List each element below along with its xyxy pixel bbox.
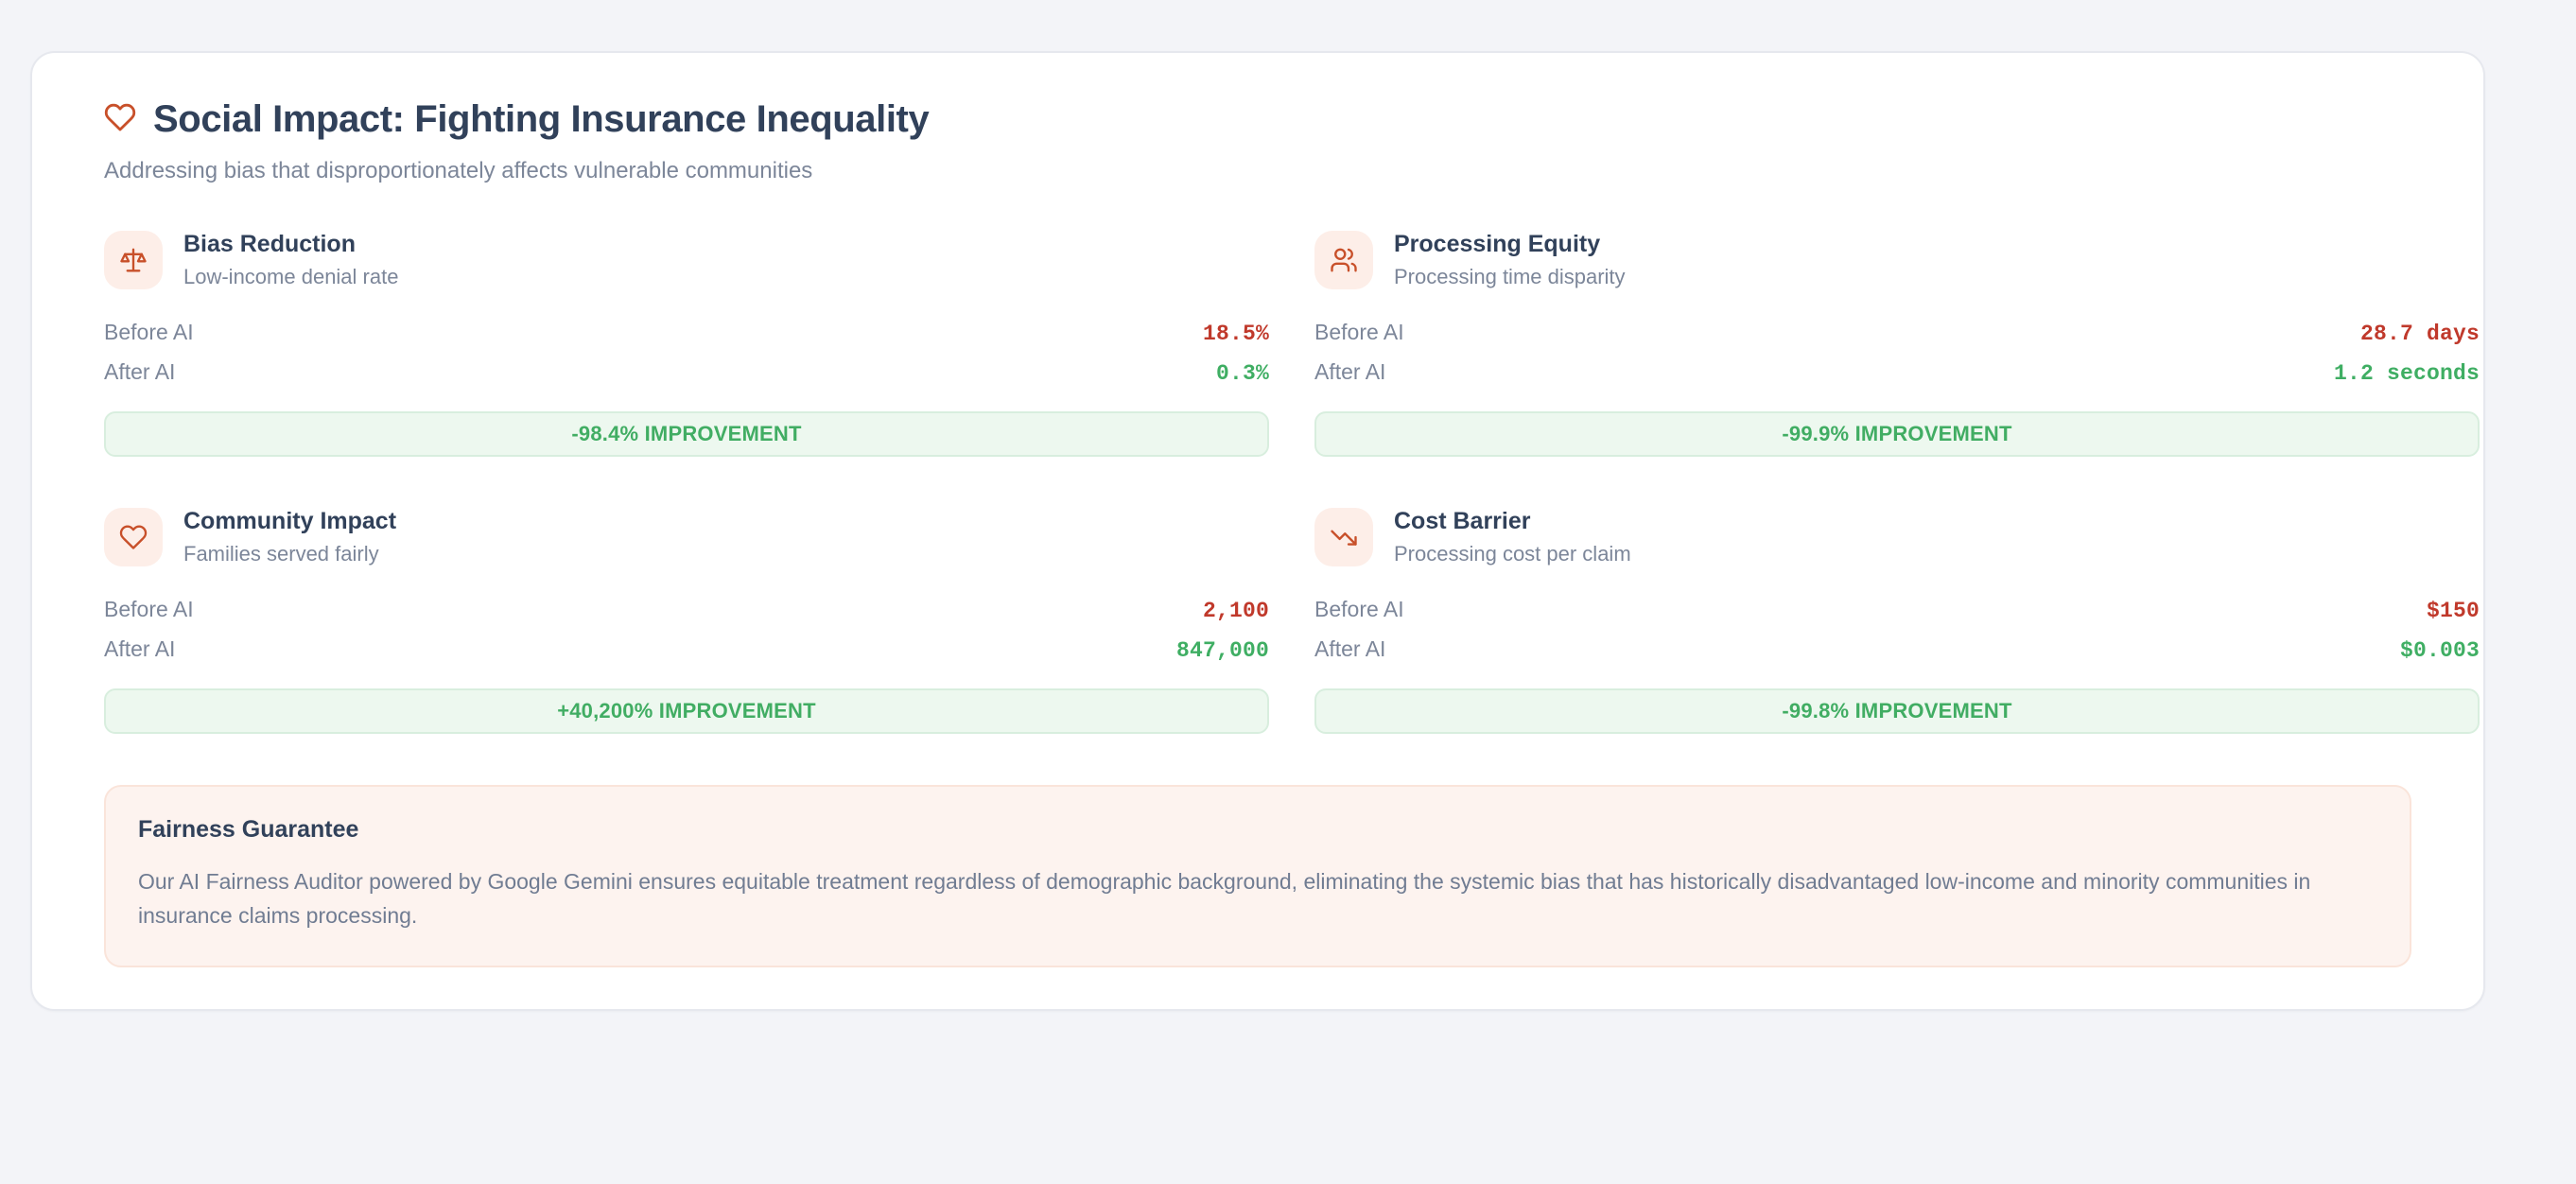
users-people-icon — [1314, 231, 1373, 289]
metric-rows: Before AI 2,100 After AI 847,000 — [104, 590, 1269, 670]
metric-row-after: After AI 1.2 seconds — [1314, 353, 2480, 392]
metric-card-bias-reduction: Bias Reduction Low-income denial rate Be… — [104, 231, 1269, 457]
page-root: Social Impact: Fighting Insurance Inequa… — [0, 0, 2576, 1184]
metric-row-label: Before AI — [104, 597, 194, 622]
metric-value-before: 28.7 days — [2360, 322, 2480, 346]
metric-row-label: Before AI — [1314, 597, 1404, 622]
metric-header: Community Impact Families served fairly — [104, 508, 1269, 566]
heart-icon — [104, 508, 163, 566]
title-row: Social Impact: Fighting Insurance Inequa… — [104, 98, 2440, 140]
metric-description: Processing cost per claim — [1394, 542, 1631, 566]
metric-description: Processing time disparity — [1394, 265, 1626, 288]
metric-value-before: 18.5% — [1203, 322, 1269, 346]
metric-header: Bias Reduction Low-income denial rate — [104, 231, 1269, 289]
metric-value-after: 1.2 seconds — [2334, 361, 2480, 386]
heart-icon — [104, 101, 136, 138]
social-impact-panel: Social Impact: Fighting Insurance Inequa… — [30, 51, 2485, 1011]
fairness-guarantee-title: Fairness Guarantee — [138, 817, 2377, 844]
metric-row-label: Before AI — [1314, 320, 1404, 345]
trending-down-icon — [1314, 508, 1373, 566]
metric-name: Community Impact — [183, 509, 396, 535]
metric-row-label: After AI — [104, 636, 175, 662]
metric-value-after: 847,000 — [1176, 638, 1269, 663]
metric-row-before: Before AI 18.5% — [104, 313, 1269, 353]
metric-grid: Bias Reduction Low-income denial rate Be… — [76, 231, 2440, 734]
improvement-badge: -98.4% IMPROVEMENT — [104, 411, 1269, 457]
metric-value-after: $0.003 — [2400, 638, 2480, 663]
metric-rows: Before AI $150 After AI $0.003 — [1314, 590, 2480, 670]
metric-row-after: After AI 847,000 — [104, 630, 1269, 670]
metric-header: Cost Barrier Processing cost per claim — [1314, 508, 2480, 566]
metric-header-text: Community Impact Families served fairly — [183, 509, 396, 566]
panel-header: Social Impact: Fighting Insurance Inequa… — [76, 98, 2440, 185]
improvement-badge: -99.9% IMPROVEMENT — [1314, 411, 2480, 457]
metric-row-label: After AI — [1314, 636, 1385, 662]
metric-value-before: $150 — [2427, 599, 2480, 623]
metric-header-text: Cost Barrier Processing cost per claim — [1394, 509, 1631, 566]
page-title: Social Impact: Fighting Insurance Inequa… — [153, 98, 929, 140]
metric-row-label: After AI — [1314, 359, 1385, 385]
metric-value-after: 0.3% — [1216, 361, 1269, 386]
metric-header-text: Processing Equity Processing time dispar… — [1394, 232, 1626, 288]
metric-row-before: Before AI 2,100 — [104, 590, 1269, 630]
metric-row-before: Before AI $150 — [1314, 590, 2480, 630]
scales-balance-icon — [104, 231, 163, 289]
metric-value-before: 2,100 — [1203, 599, 1269, 623]
metric-description: Families served fairly — [183, 542, 396, 566]
fairness-guarantee-panel: Fairness Guarantee Our AI Fairness Audit… — [104, 785, 2411, 967]
metric-row-after: After AI $0.003 — [1314, 630, 2480, 670]
metric-card-processing-equity: Processing Equity Processing time dispar… — [1314, 231, 2480, 457]
metric-header: Processing Equity Processing time dispar… — [1314, 231, 2480, 289]
metric-name: Cost Barrier — [1394, 509, 1631, 535]
metric-name: Processing Equity — [1394, 232, 1626, 258]
fairness-guarantee-body: Our AI Fairness Auditor powered by Googl… — [138, 864, 2377, 934]
metric-row-before: Before AI 28.7 days — [1314, 313, 2480, 353]
metric-card-cost-barrier: Cost Barrier Processing cost per claim B… — [1314, 508, 2480, 734]
metric-rows: Before AI 18.5% After AI 0.3% — [104, 313, 1269, 392]
metric-rows: Before AI 28.7 days After AI 1.2 seconds — [1314, 313, 2480, 392]
improvement-badge: +40,200% IMPROVEMENT — [104, 688, 1269, 734]
improvement-badge: -99.8% IMPROVEMENT — [1314, 688, 2480, 734]
metric-description: Low-income denial rate — [183, 265, 398, 288]
metric-row-label: Before AI — [104, 320, 194, 345]
metric-card-community-impact: Community Impact Families served fairly … — [104, 508, 1269, 734]
metric-header-text: Bias Reduction Low-income denial rate — [183, 232, 398, 288]
metric-name: Bias Reduction — [183, 232, 398, 258]
metric-row-label: After AI — [104, 359, 175, 385]
page-subtitle: Addressing bias that disproportionately … — [104, 156, 2440, 185]
metric-row-after: After AI 0.3% — [104, 353, 1269, 392]
